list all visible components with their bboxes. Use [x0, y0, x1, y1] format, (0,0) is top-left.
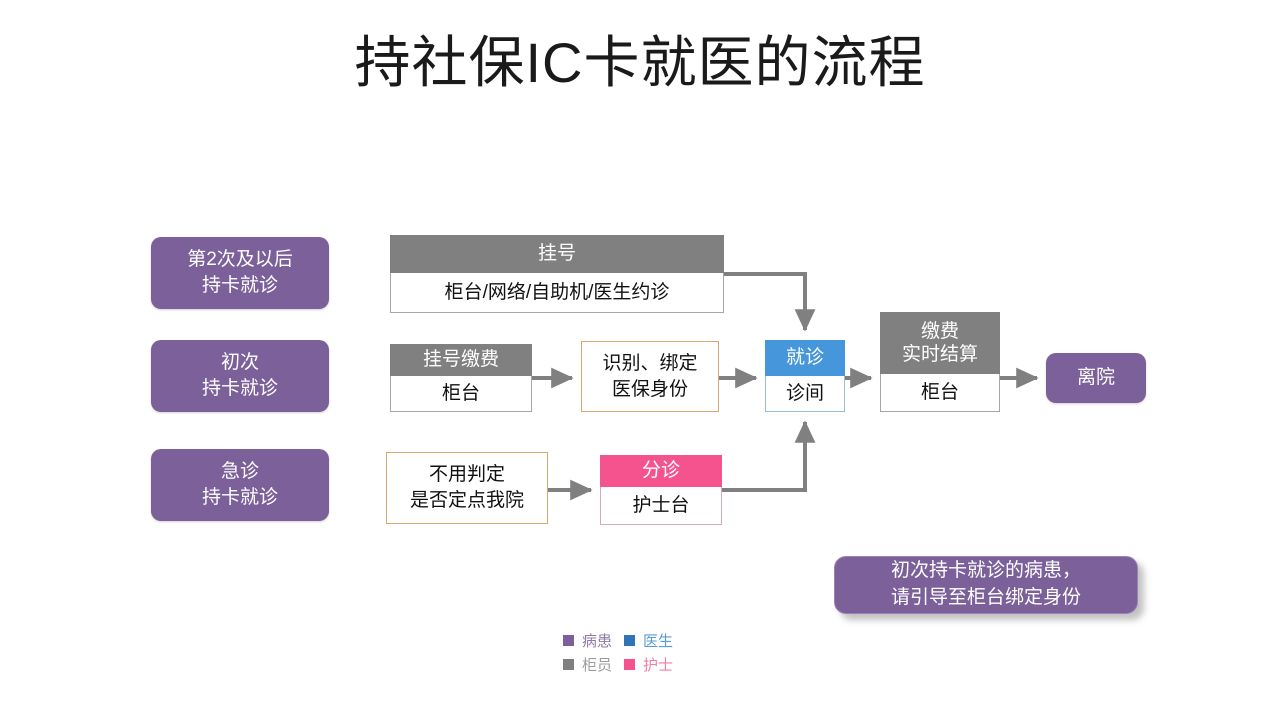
settlement-header: 缴费 实时结算 [880, 312, 1000, 374]
settlement-header-line-1: 缴费 [921, 320, 959, 343]
connector-triage-to-consultation [722, 422, 805, 490]
note-line-2: 请引导至柜台绑定身份 [891, 585, 1081, 612]
stage-box-first-visit[interactable]: 初次 持卡就诊 [151, 340, 329, 412]
consultation-body: 诊间 [765, 376, 845, 412]
legend-swatch-clerk [563, 659, 574, 670]
triage-header: 分诊 [600, 455, 722, 487]
legend-label-clerk: 柜员 [582, 654, 616, 675]
legend: 病患 医生 柜员 护士 [563, 630, 677, 675]
stage-line-1: 初次 [221, 350, 259, 376]
stage-box-emergency[interactable]: 急诊 持卡就诊 [151, 449, 329, 521]
slide-canvas: 持社保IC卡就医的流程 第2次及以后 持卡就诊 初次 持卡就诊 急诊 持卡就诊 … [0, 0, 1280, 720]
stage-box-repeat-visit[interactable]: 第2次及以后 持卡就诊 [151, 237, 329, 309]
no-designation-check-line-2: 是否定点我院 [410, 488, 524, 514]
first-visit-note: 初次持卡就诊的病患， 请引导至柜台绑定身份 [834, 556, 1138, 614]
legend-swatch-patient [563, 635, 574, 646]
identity-binding-line-1: 识别、绑定 [602, 351, 697, 377]
registration-header: 挂号 [390, 235, 724, 273]
triage-body: 护士台 [600, 487, 722, 525]
legend-label-nurse: 护士 [643, 654, 677, 675]
connector-registration-to-consultation [724, 274, 805, 330]
stage-line-2: 持卡就诊 [202, 273, 278, 299]
registration-payment-body: 柜台 [390, 376, 532, 412]
exit-box-leave-hospital[interactable]: 离院 [1046, 353, 1146, 403]
process-box-registration[interactable]: 挂号 柜台/网络/自助机/医生约诊 [390, 235, 724, 313]
identity-binding-line-2: 医保身份 [612, 377, 688, 403]
stage-line-2: 持卡就诊 [202, 376, 278, 402]
process-box-consultation[interactable]: 就诊 诊间 [765, 340, 845, 412]
note-line-1: 初次持卡就诊的病患， [891, 558, 1081, 585]
process-box-registration-payment[interactable]: 挂号缴费 柜台 [390, 344, 532, 412]
exit-box-label: 离院 [1077, 365, 1115, 391]
registration-payment-header: 挂号缴费 [390, 344, 532, 376]
consultation-header: 就诊 [765, 340, 845, 376]
settlement-body: 柜台 [880, 374, 1000, 412]
no-designation-check-line-1: 不用判定 [429, 462, 505, 488]
process-box-settlement[interactable]: 缴费 实时结算 柜台 [880, 312, 1000, 412]
plain-box-no-designation-check[interactable]: 不用判定 是否定点我院 [386, 452, 548, 524]
legend-swatch-nurse [624, 659, 635, 670]
process-box-triage[interactable]: 分诊 护士台 [600, 455, 722, 525]
settlement-header-line-2: 实时结算 [902, 343, 978, 366]
registration-body: 柜台/网络/自助机/医生约诊 [390, 273, 724, 313]
legend-label-patient: 病患 [582, 630, 616, 651]
plain-box-identity-binding[interactable]: 识别、绑定 医保身份 [581, 341, 719, 412]
stage-line-2: 持卡就诊 [202, 485, 278, 511]
legend-label-doctor: 医生 [643, 630, 677, 651]
stage-line-1: 急诊 [221, 459, 259, 485]
legend-swatch-doctor [624, 635, 635, 646]
stage-line-1: 第2次及以后 [187, 247, 293, 273]
